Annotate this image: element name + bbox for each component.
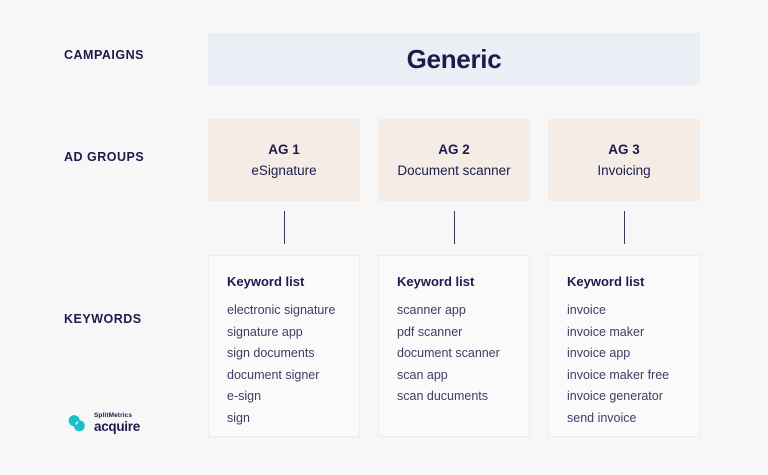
keyword-items-3: invoice invoice maker invoice app invoic… <box>567 300 699 429</box>
keyword-item: invoice maker <box>567 322 699 344</box>
keyword-list-title-1: Keyword list <box>227 274 359 289</box>
keyword-item: document signer <box>227 365 359 387</box>
keyword-items-2: scanner app pdf scanner document scanner… <box>397 300 529 408</box>
splitmetrics-rings-icon <box>66 412 88 434</box>
keyword-item: scanner app <box>397 300 529 322</box>
connector-line-1 <box>284 211 286 244</box>
keyword-item: e-sign <box>227 386 359 408</box>
keyword-item: scan app <box>397 365 529 387</box>
ad-group-box-1[interactable]: AG 1 eSignature <box>208 119 360 201</box>
connector-line-3 <box>624 211 626 244</box>
logo-text-block: SplitMetrics acquire <box>94 413 140 434</box>
campaign-box-generic[interactable]: Generic <box>208 33 700 85</box>
ad-group-code-1: AG 1 <box>268 142 300 157</box>
ad-group-code-2: AG 2 <box>438 142 470 157</box>
keyword-list-box-3[interactable]: Keyword list invoice invoice maker invoi… <box>548 255 700 437</box>
keyword-item: sign <box>227 408 359 430</box>
keyword-item: document scanner <box>397 343 529 365</box>
keyword-item: invoice app <box>567 343 699 365</box>
keyword-item: electronic signature <box>227 300 359 322</box>
keyword-item: signature app <box>227 322 359 344</box>
splitmetrics-acquire-logo: SplitMetrics acquire <box>66 412 140 434</box>
ad-group-box-3[interactable]: AG 3 Invoicing <box>548 119 700 201</box>
keyword-list-title-3: Keyword list <box>567 274 699 289</box>
keyword-list-box-1[interactable]: Keyword list electronic signature signat… <box>208 255 360 437</box>
row-label-keywords: KEYWORDS <box>64 312 142 326</box>
connector-line-2 <box>454 211 456 244</box>
diagram-canvas: CAMPAIGNS AD GROUPS KEYWORDS Generic AG … <box>0 0 768 475</box>
keyword-item: invoice maker free <box>567 365 699 387</box>
keyword-item: invoice <box>567 300 699 322</box>
ad-group-box-2[interactable]: AG 2 Document scanner <box>378 119 530 201</box>
keyword-item: sign documents <box>227 343 359 365</box>
logo-product: acquire <box>94 420 140 434</box>
campaign-title: Generic <box>407 44 502 75</box>
ad-group-code-3: AG 3 <box>608 142 640 157</box>
ad-group-name-1: eSignature <box>251 163 316 178</box>
keyword-list-box-2[interactable]: Keyword list scanner app pdf scanner doc… <box>378 255 530 437</box>
keyword-item: send invoice <box>567 408 699 430</box>
row-label-campaigns: CAMPAIGNS <box>64 48 144 62</box>
keyword-list-title-2: Keyword list <box>397 274 529 289</box>
keyword-item: invoice generator <box>567 386 699 408</box>
ad-group-name-2: Document scanner <box>397 163 510 178</box>
keyword-item: pdf scanner <box>397 322 529 344</box>
keyword-items-1: electronic signature signature app sign … <box>227 300 359 429</box>
ad-group-name-3: Invoicing <box>597 163 650 178</box>
keyword-item: scan ducuments <box>397 386 529 408</box>
row-label-ad-groups: AD GROUPS <box>64 150 144 164</box>
